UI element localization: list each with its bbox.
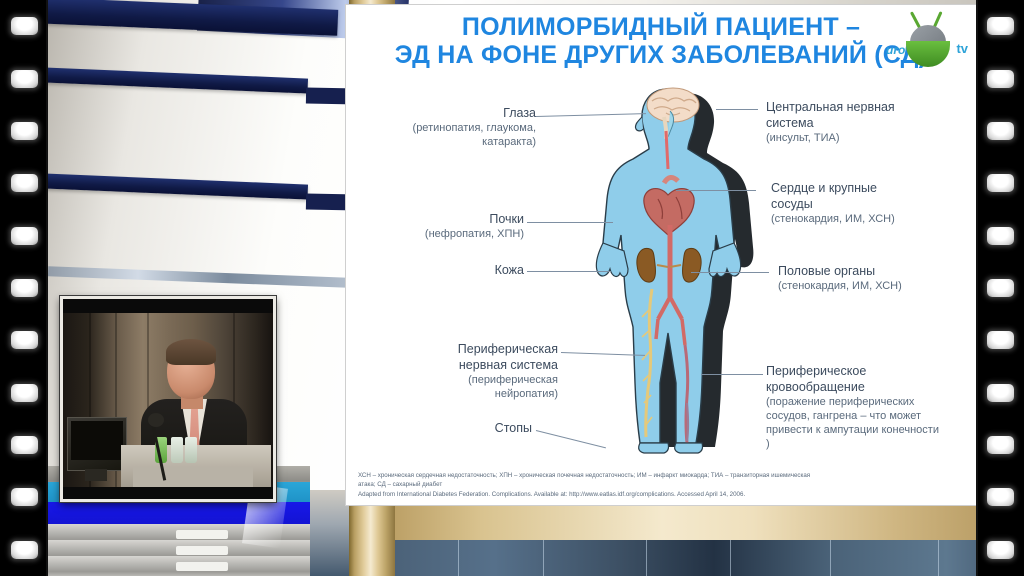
slide-title-line2: ЭД НА ФОНЕ ДРУГИХ ЗАБОЛЕВАНИЙ (СД) <box>346 41 976 69</box>
film-sprocket-hole <box>987 227 1014 245</box>
leader-line <box>701 374 763 375</box>
urotv-logo: uro tv <box>886 11 964 73</box>
film-sprocket-hole <box>11 488 38 506</box>
film-sprocket-hole <box>11 436 38 454</box>
studio-stripe <box>48 66 308 94</box>
water-bottle <box>171 437 183 463</box>
film-sprocket-hole <box>11 541 38 559</box>
presentation-slide: ПОЛИМОРБИДНЫЙ ПАЦИЕНТ – ЭД НА ФОНЕ ДРУГИ… <box>345 4 977 506</box>
slide-footnote: ХСН – хроническая сердечная недостаточно… <box>358 471 964 499</box>
label-peripheral-nervous-system: Периферическая нервная система (перифери… <box>366 341 558 401</box>
film-strip-left <box>0 0 48 576</box>
leader-line <box>527 271 611 272</box>
lectern-monitor-icon <box>67 417 127 471</box>
film-sprocket-hole <box>11 17 38 35</box>
film-sprocket-hole <box>11 174 38 192</box>
studio-blue-band <box>378 540 976 576</box>
speaker-video <box>63 299 273 499</box>
label-heart-head: Сердце и крупные сосуды <box>771 180 971 212</box>
leader-line <box>527 222 613 223</box>
label-genital-organs: Половые органы (стенокардия, ИМ, ХСН) <box>778 263 973 293</box>
film-sprocket-hole <box>987 384 1014 402</box>
film-sprocket-hole <box>987 174 1014 192</box>
label-feet: Стопы <box>366 420 532 436</box>
label-genital-head: Половые органы <box>778 263 973 279</box>
label-kidneys-head: Почки <box>366 211 524 227</box>
label-skin: Кожа <box>366 262 524 278</box>
label-feet-head: Стопы <box>366 420 532 436</box>
film-sprocket-hole <box>11 331 38 349</box>
label-kidneys-sub: (нефропатия, ХПН) <box>366 227 524 241</box>
water-bottle <box>185 437 197 463</box>
film-sprocket-hole <box>11 122 38 140</box>
human-body-diagram <box>578 83 758 455</box>
film-strip-right <box>976 0 1024 576</box>
footnote-line-2: атака; СД – сахарный диабет <box>358 480 964 489</box>
footnote-line-1: ХСН – хроническая сердечная недостаточно… <box>358 471 964 480</box>
logo-leaf-icon <box>906 41 950 67</box>
label-cns-sub: (инсульт, ТИА) <box>766 131 966 145</box>
label-peripheral-circulation: Периферическое кровообращение (поражение… <box>766 363 972 451</box>
film-sprocket-hole <box>11 279 38 297</box>
label-circulation-head: Периферическое кровообращение <box>766 363 972 395</box>
leader-line <box>691 272 769 273</box>
label-cns-head: Центральная нервная система <box>766 99 966 131</box>
film-sprocket-hole <box>987 122 1014 140</box>
label-pns-sub: (периферическая нейропатия) <box>366 373 558 401</box>
film-sprocket-hole <box>987 17 1014 35</box>
studio-stripe <box>48 172 308 200</box>
label-eyes-sub: (ретинопатия, глаукома, катаракта) <box>366 121 536 149</box>
label-heart-vessels: Сердце и крупные сосуды (стенокардия, ИМ… <box>771 180 971 226</box>
studio-led-strip <box>48 266 348 288</box>
film-sprocket-hole <box>987 279 1014 297</box>
logo-brand-text: uro <box>886 43 905 57</box>
film-sprocket-hole <box>987 331 1014 349</box>
video-frame: ПОЛИМОРБИДНЫЙ ПАЦИЕНТ – ЭД НА ФОНЕ ДРУГИ… <box>0 0 1024 576</box>
film-sprocket-hole <box>987 541 1014 559</box>
slide-title: ПОЛИМОРБИДНЫЙ ПАЦИЕНТ – ЭД НА ФОНЕ ДРУГИ… <box>346 13 976 69</box>
label-skin-head: Кожа <box>366 262 524 278</box>
logo-suffix-text: tv <box>956 41 968 56</box>
label-genital-sub: (стенокардия, ИМ, ХСН) <box>778 279 973 293</box>
leader-line <box>676 190 756 191</box>
label-kidneys: Почки (нефропатия, ХПН) <box>366 211 524 241</box>
slide-title-line1: ПОЛИМОРБИДНЫЙ ПАЦИЕНТ – <box>462 13 860 41</box>
film-sprocket-hole <box>987 488 1014 506</box>
label-eyes: Глаза (ретинопатия, глаукома, катаракта) <box>366 105 536 149</box>
film-sprocket-hole <box>987 436 1014 454</box>
leader-line <box>716 109 758 110</box>
film-sprocket-hole <box>987 70 1014 88</box>
label-pns-head: Периферическая нервная система <box>366 341 558 373</box>
label-central-nervous-system: Центральная нервная система (инсульт, ТИ… <box>766 99 966 145</box>
label-heart-sub: (стенокардия, ИМ, ХСН) <box>771 212 971 226</box>
film-sprocket-hole <box>11 70 38 88</box>
footnote-line-3: Adapted from International Diabetes Fede… <box>358 490 964 499</box>
label-eyes-head: Глаза <box>366 105 536 121</box>
speaker-video-inset[interactable] <box>60 296 276 502</box>
film-sprocket-hole <box>11 384 38 402</box>
film-sprocket-hole <box>11 227 38 245</box>
label-circulation-sub: (поражение периферических сосудов, гангр… <box>766 395 972 451</box>
microphone-icon <box>148 413 164 427</box>
